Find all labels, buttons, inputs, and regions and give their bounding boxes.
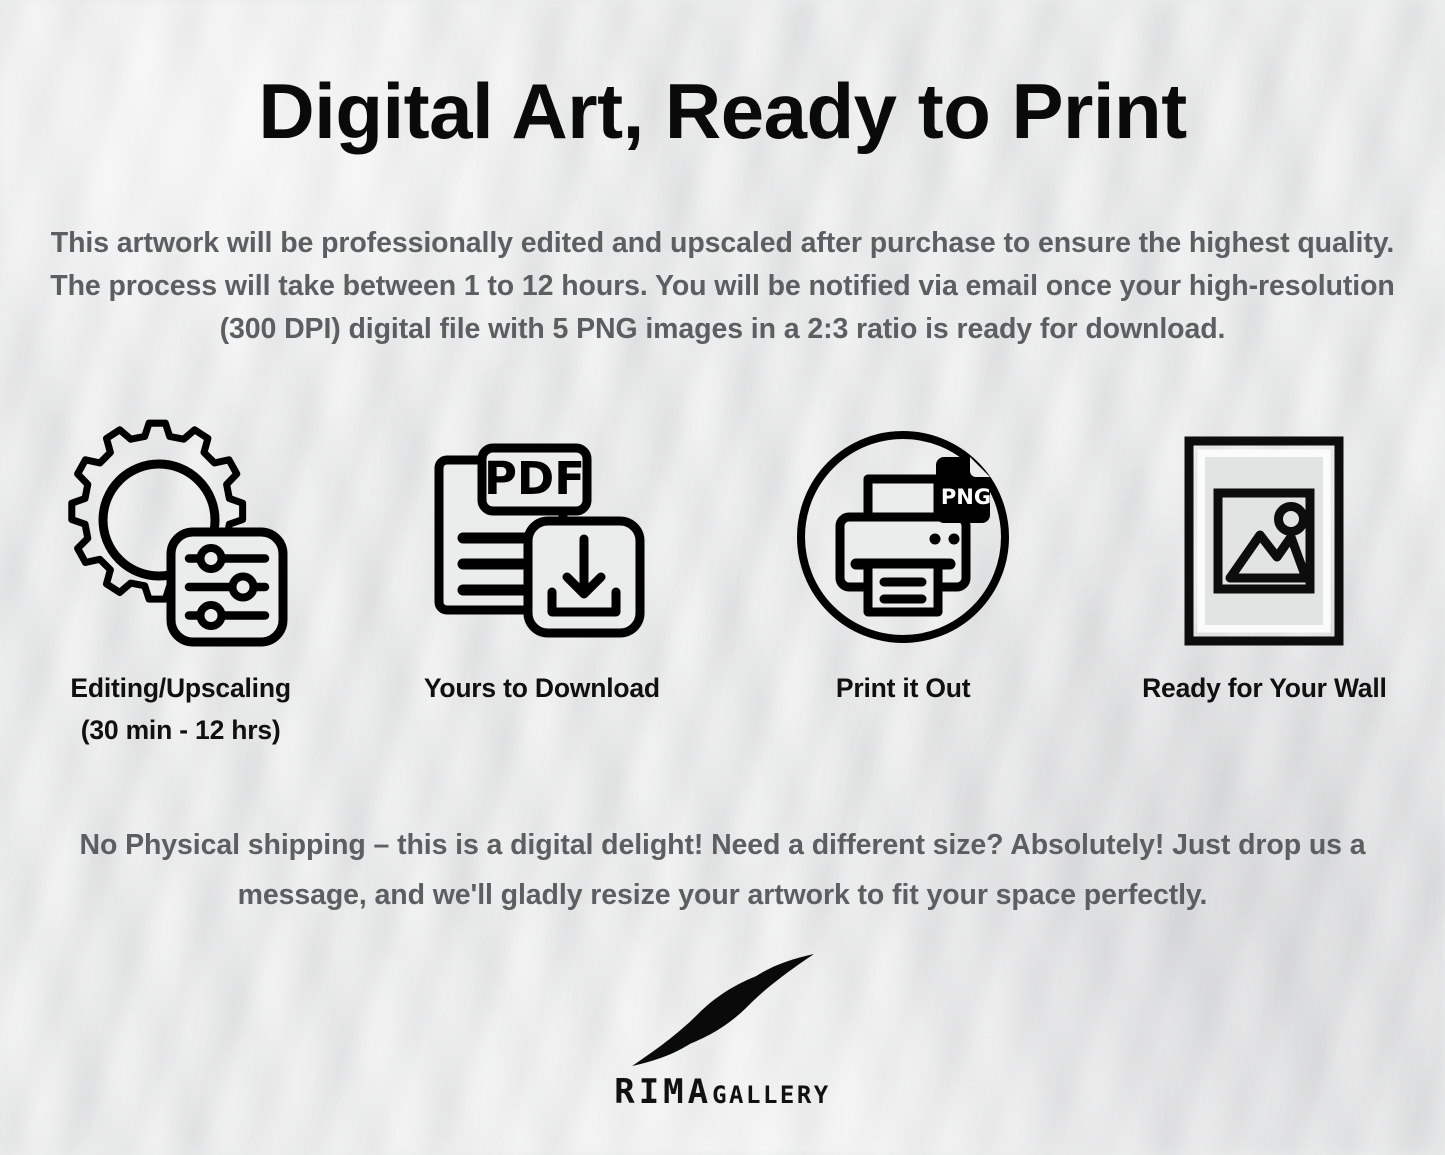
brand-name-secondary: GALLERY	[712, 1081, 831, 1109]
feature-caption: Yours to Download	[424, 667, 660, 709]
brand-name-primary: RIMA	[614, 1072, 712, 1112]
feature-item-framed-wall: Ready for Your Wall	[1084, 415, 1445, 775]
feature-item-download: PDF Yours to Download	[361, 415, 722, 775]
pdf-badge-label: PDF	[484, 452, 585, 505]
feature-item-print: PNG Print it Out	[723, 415, 1084, 775]
page-title: Digital Art, Ready to Print	[0, 72, 1445, 150]
feature-caption: Ready for Your Wall	[1142, 667, 1387, 709]
brand-wordmark: RIMA GALLERY	[614, 1072, 831, 1112]
promo-canvas: Digital Art, Ready to Print This artwork…	[0, 0, 1445, 1155]
feature-row: Editing/Upscaling (30 min - 12 hrs) PDF	[0, 415, 1445, 775]
framed-picture-icon	[1185, 415, 1343, 645]
feature-caption: Print it Out	[836, 667, 971, 709]
feature-caption: Editing/Upscaling (30 min - 12 hrs)	[70, 667, 290, 751]
pdf-download-icon: PDF	[436, 415, 648, 645]
feature-item-editing-upscaling: Editing/Upscaling (30 min - 12 hrs)	[0, 415, 361, 775]
printer-circle-icon: PNG	[796, 415, 1011, 645]
brand-logo: RIMA GALLERY	[0, 950, 1445, 1112]
outro-paragraph: No Physical shipping – this is a digital…	[48, 820, 1397, 920]
gear-sliders-icon	[65, 415, 297, 645]
double-swoosh-logo-mark	[608, 950, 838, 1070]
intro-paragraph: This artwork will be professionally edit…	[50, 222, 1395, 351]
png-badge-label: PNG	[941, 485, 991, 509]
